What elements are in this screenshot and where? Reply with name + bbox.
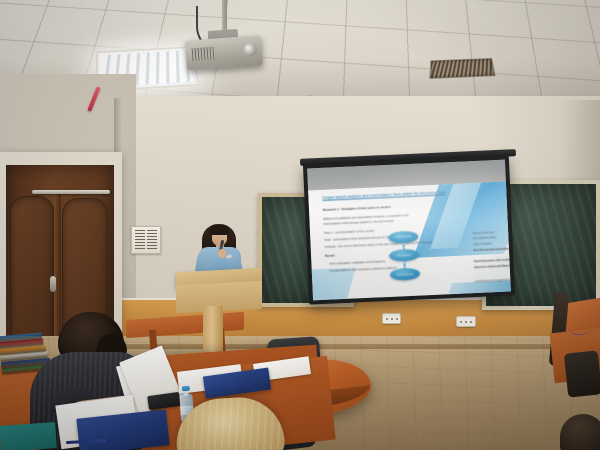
slide-text-line: Result : [325,254,353,259]
flow-node: Concordance [390,268,421,281]
classroom-presentation-photo: Corpus based analysis and concordance li… [0,0,600,450]
slide-text-line: Lexical patterns, and semantic preferenc… [330,265,445,274]
wall-notice-poster [131,226,161,254]
door-push-bar[interactable] [32,190,110,194]
screen-surface: Corpus based analysis and concordance li… [307,160,511,301]
slide-text-line: Research 1 : Strategies of their peers i… [323,203,446,212]
slide-note-line: discourse criteria and filtered data on … [474,264,511,269]
door-handle-icon[interactable] [50,276,56,292]
bottle-cap [182,386,190,392]
far-chair [564,350,600,397]
lectern-column [203,306,223,358]
teal-folder [0,422,57,450]
ceiling-vent-icon [429,58,495,79]
projector-vent-icon [192,47,215,62]
power-outlet[interactable] [456,316,476,327]
projection-screen: Corpus based analysis and concordance li… [303,155,515,304]
slide-text-line: Verb collocation, realisation and freque… [329,258,432,267]
presentation-slide: Corpus based analysis and concordance li… [308,182,511,300]
projector-lens-icon [243,43,257,57]
slide-note-line: Searching means that results in selected [474,258,511,263]
power-outlet[interactable] [382,313,401,324]
presenter-hair-front [209,225,230,235]
projector [185,35,263,70]
presenter-hand [218,249,226,258]
poster-text-lines [135,230,157,250]
